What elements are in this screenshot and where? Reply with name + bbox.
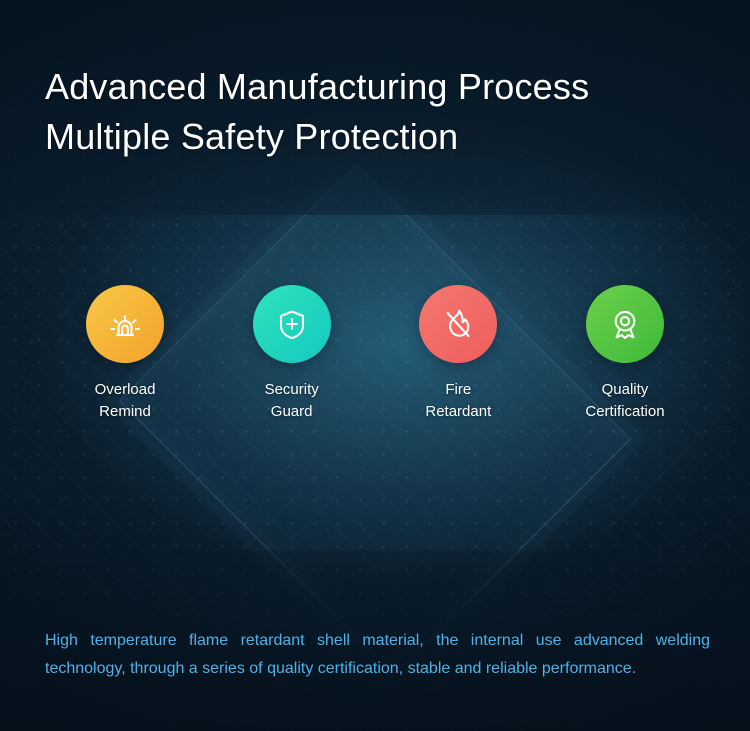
feature-item-security-guard: Security Guard [212,285,372,423]
banner-footer-description: High temperature flame retardant shell m… [45,627,710,683]
feature-list: Overload Remind Security Guard [45,285,705,423]
security-guard-badge [253,285,331,363]
flame-slash-icon [438,304,478,344]
feature-item-quality-certification: Quality Certification [545,285,705,423]
heading-line-1: Advanced Manufacturing Process [45,62,705,112]
feature-item-overload-remind: Overload Remind [45,285,205,423]
shield-plus-icon [272,304,312,344]
feature-label: Fire Retardant [425,379,491,423]
fire-retardant-badge [419,285,497,363]
award-medal-icon [605,304,645,344]
feature-label: Overload Remind [95,379,156,423]
feature-item-fire-retardant: Fire Retardant [378,285,538,423]
banner-heading: Advanced Manufacturing Process Multiple … [45,62,705,162]
product-feature-banner: Advanced Manufacturing Process Multiple … [0,0,750,731]
overload-remind-badge [86,285,164,363]
alarm-light-icon [105,304,145,344]
heading-line-2: Multiple Safety Protection [45,112,705,162]
quality-certification-badge [586,285,664,363]
feature-label: Quality Certification [585,379,664,423]
feature-label: Security Guard [265,379,319,423]
